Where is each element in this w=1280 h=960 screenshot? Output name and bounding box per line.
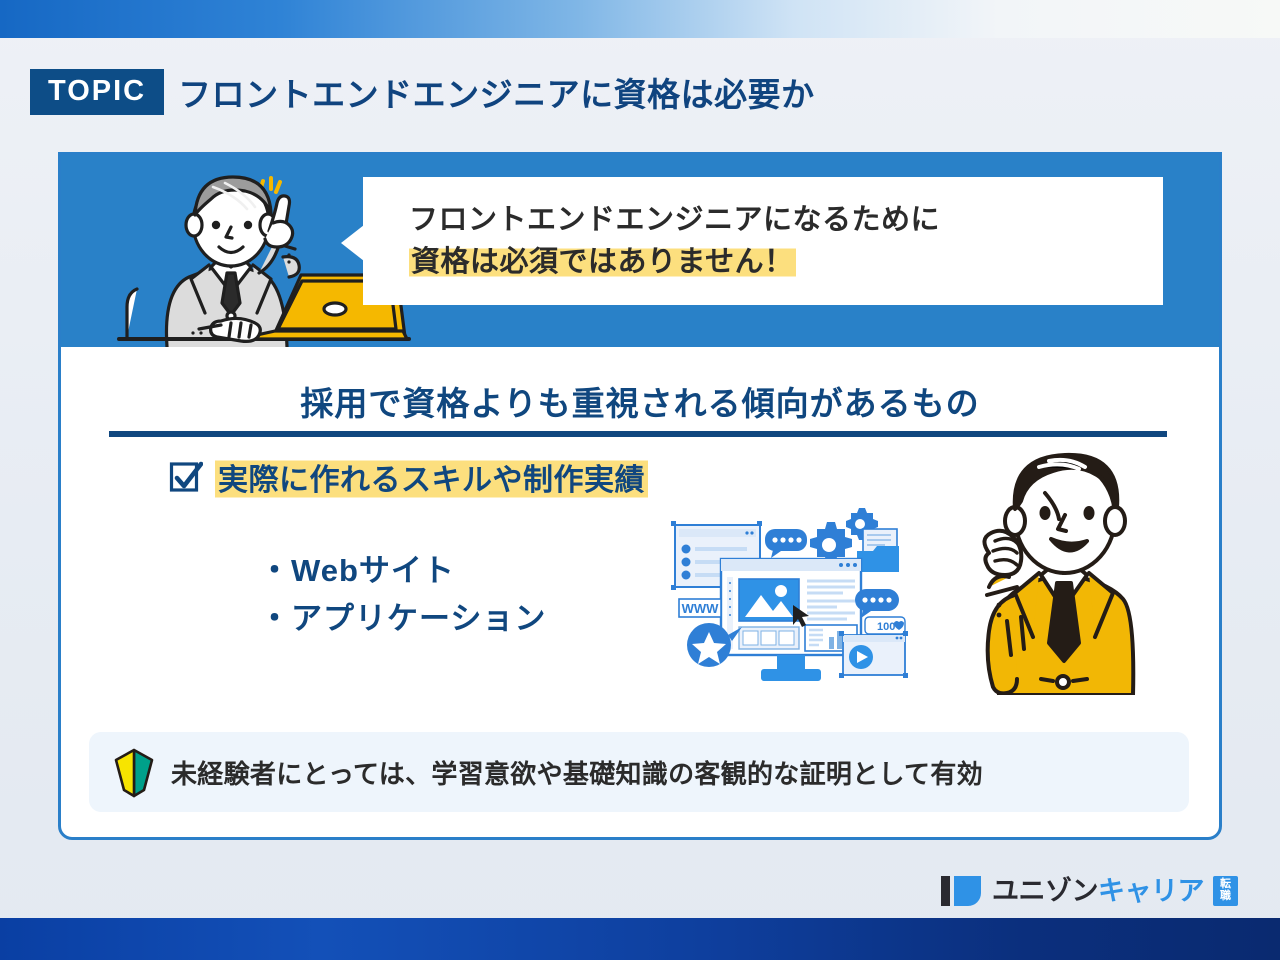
list-item: ・Webサイト bbox=[259, 547, 546, 595]
bubble-line-1: フロントエンドエンジニアになるために bbox=[409, 199, 1163, 241]
bullet-list: ・Webサイト ・アプリケーション bbox=[259, 547, 546, 643]
svg-text:WWW: WWW bbox=[682, 601, 720, 616]
page-header: TOPIC フロントエンドエンジニアに資格は必要か bbox=[30, 68, 815, 116]
logo-name-blue: キャリア bbox=[1098, 876, 1204, 906]
web-design-monitor-icon: WWW 100 bbox=[665, 507, 915, 692]
bubble-highlight-text: 資格は必須ではありません！ bbox=[409, 246, 796, 278]
note-box: 未経験者にとっては、学習意欲や基礎知識の客観的な証明として有効 bbox=[89, 732, 1189, 812]
section-underline bbox=[109, 431, 1167, 437]
speech-bubble: フロントエンドエンジニアになるために 資格は必須ではありません！ bbox=[363, 177, 1163, 305]
logo-badge: 転 職 bbox=[1213, 876, 1238, 906]
logo-name-dark: ユニゾン bbox=[992, 876, 1098, 906]
brand-logo: ユニゾンキャリア 転 職 bbox=[939, 874, 1238, 908]
content-card: フロントエンドエンジニアになるために 資格は必須ではありません！ 採用で資格より… bbox=[58, 152, 1222, 840]
section-heading: 採用で資格よりも重視される傾向があるもの bbox=[61, 377, 1219, 425]
top-gradient-bar bbox=[0, 0, 1280, 38]
logo-badge-line-2: 職 bbox=[1220, 891, 1231, 903]
checkbox-checked-icon bbox=[169, 460, 203, 494]
list-item: ・アプリケーション bbox=[259, 595, 546, 643]
bubble-line-2: 資格は必須ではありません！ bbox=[409, 241, 1163, 283]
japanese-beginner-leaf-mark-icon bbox=[111, 746, 157, 798]
logo-wordmark: ユニゾンキャリア bbox=[992, 878, 1204, 905]
page-title: フロントエンドエンジニアに資格は必要か bbox=[178, 68, 815, 116]
note-text: 未経験者にとっては、学習意欲や基礎知識の客観的な証明として有効 bbox=[171, 754, 983, 791]
man-in-yellow-suit-fist-pump-icon bbox=[903, 445, 1193, 695]
card-header-band: フロントエンドエンジニアになるために 資格は必須ではありません！ bbox=[61, 155, 1219, 347]
svg-text:100: 100 bbox=[877, 621, 895, 633]
topic-badge: TOPIC bbox=[30, 69, 164, 115]
check-item-row: 実際に作れるスキルや制作実績 bbox=[169, 455, 648, 499]
check-item-label: 実際に作れるスキルや制作実績 bbox=[215, 455, 648, 499]
page-background: TOPIC フロントエンドエンジニアに資格は必要か bbox=[0, 0, 1280, 960]
card-body: 採用で資格よりも重視される傾向があるもの 実際に作れるスキルや制作実績 ・Web… bbox=[61, 347, 1219, 840]
bottom-gradient-bar bbox=[0, 918, 1280, 960]
unison-logo-mark-icon bbox=[939, 874, 983, 908]
